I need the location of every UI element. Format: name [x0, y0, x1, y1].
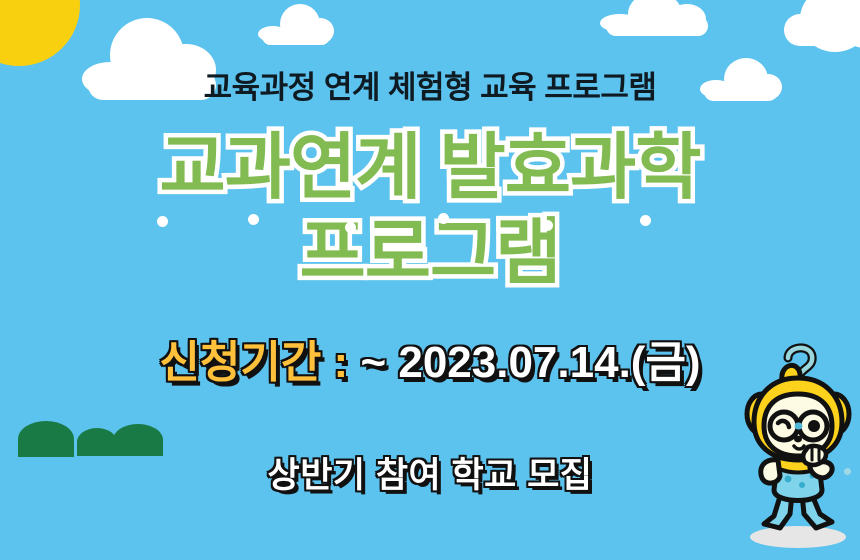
application-period-label: 신청기간 :: [159, 338, 360, 387]
grass-band: [0, 497, 860, 560]
cloud-icon: [258, 4, 338, 46]
dot-decoration: [157, 216, 168, 227]
poster-subtitle: 교육과정 연계 체험형 교육 프로그램: [0, 62, 860, 107]
dot-decoration: [345, 222, 356, 233]
title-line-2: 프로그램: [0, 211, 860, 296]
dot-decoration: [640, 215, 651, 226]
dot-decoration: [248, 214, 259, 225]
promo-poster: 교육과정 연계 체험형 교육 프로그램 교과연계 발효과학 프로그램 신청기간 …: [0, 0, 860, 560]
dot-decoration: [542, 220, 553, 231]
title-line-1: 교과연계 발효과학: [0, 126, 860, 211]
dot-decoration: [438, 213, 449, 224]
recruitment-banner-text: 상반기 참여 학교 모집: [0, 447, 860, 498]
thinking-mascot-character: [736, 338, 860, 553]
cloud-icon: [784, 0, 860, 58]
poster-title: 교과연계 발효과학 프로그램: [0, 126, 860, 296]
cloud-icon: [600, 0, 720, 36]
mascot-body: [736, 338, 860, 553]
application-period-date: ~ 2023.07.14.(금): [360, 338, 700, 387]
application-period: 신청기간 : ~ 2023.07.14.(금): [0, 341, 860, 385]
